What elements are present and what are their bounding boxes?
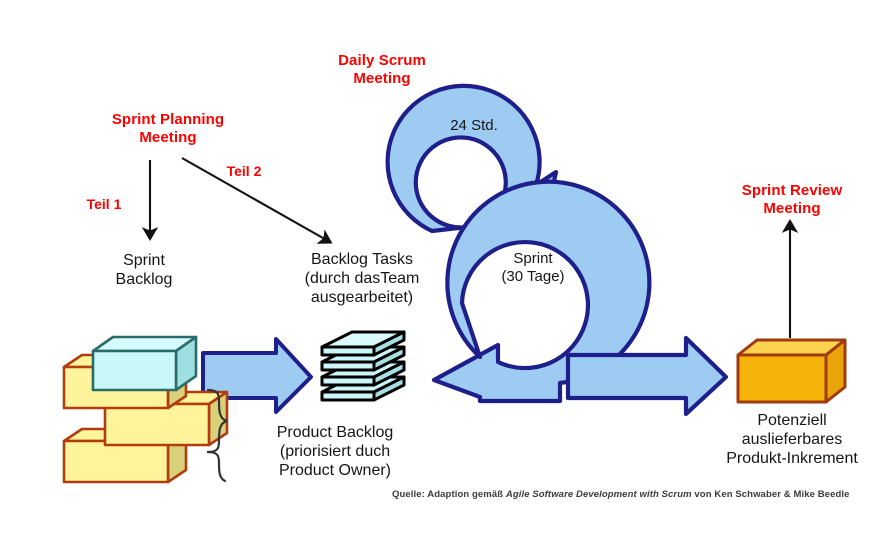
source-citation: Quelle: Adaption gemäß Agile Software De…: [392, 489, 849, 500]
product-increment-box: [738, 340, 845, 402]
label-cycle-sprint: Sprint (30 Tage): [468, 250, 598, 285]
label-product-increment: Potenziell auslieferbares Produkt-Inkrem…: [692, 412, 885, 469]
source-prefix: Quelle: Adaption gemäß: [392, 489, 506, 500]
label-cycle-24-std: 24 Std.: [419, 117, 529, 135]
label-teil-2: Teil 2: [214, 163, 274, 180]
label-teil-1: Teil 1: [74, 196, 134, 213]
sprint-backlog-block: [93, 337, 196, 390]
label-sprint-backlog: Sprint Backlog: [74, 252, 214, 290]
backlog-tasks-papers: [322, 332, 404, 400]
label-sprint-planning-meeting: Sprint Planning Meeting: [78, 111, 258, 146]
source-suffix: von Ken Schwaber & Mike Beedle: [692, 489, 850, 500]
label-daily-scrum-meeting: Daily Scrum Meeting: [292, 52, 472, 87]
diagram-canvas: Daily Scrum Meeting Sprint Planning Meet…: [0, 0, 885, 543]
label-sprint-review-meeting: Sprint Review Meeting: [702, 182, 882, 217]
label-product-backlog: Product Backlog (priorisiert duch Produc…: [232, 424, 438, 481]
source-work-title: Agile Software Development with Scrum: [506, 489, 692, 500]
label-backlog-tasks: Backlog Tasks (durch dasTeam ausgearbeit…: [262, 251, 462, 308]
